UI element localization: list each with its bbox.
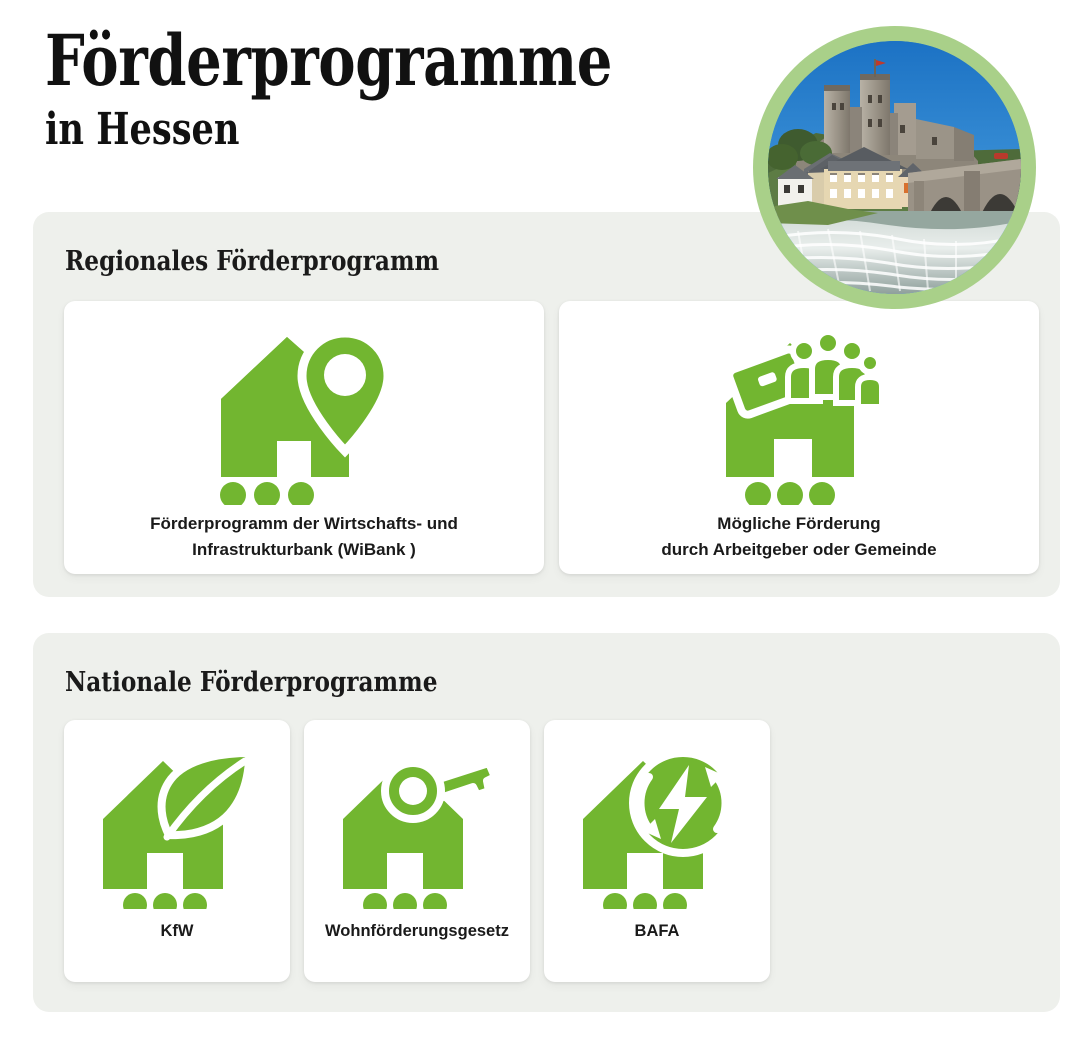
- page-subtitle: in Hessen: [45, 104, 605, 156]
- card-label: Förderprogramm der Wirtschafts- und Infr…: [134, 511, 474, 563]
- section-heading-regional: Regionales Förderprogramm: [65, 247, 439, 277]
- card-label: BAFA: [619, 918, 696, 944]
- house-leaf-icon: [97, 748, 257, 908]
- section-heading-national: Nationale Förderprogramme: [65, 668, 437, 698]
- card-row-national: KfW Woh: [64, 720, 770, 982]
- section-panel-national: Nationale Förderprogramme KfW: [33, 633, 1060, 1012]
- house-briefcase-people-icon: [712, 325, 887, 505]
- card-wohnfoerderungsgesetz[interactable]: Wohnförderungsgesetz: [304, 720, 530, 982]
- card-row-regional: Förderprogramm der Wirtschafts- und Infr…: [64, 301, 1039, 574]
- card-label: Wohnförderungsgesetz: [309, 918, 525, 944]
- card-arbeitgeber-gemeinde[interactable]: Mögliche Förderung durch Arbeitgeber ode…: [559, 301, 1039, 574]
- card-kfw[interactable]: KfW: [64, 720, 290, 982]
- hero-photo-ring: [753, 26, 1036, 309]
- castle-photo-illustration: [768, 41, 1021, 294]
- house-key-icon: [337, 748, 497, 908]
- house-energy-bolt-icon: [577, 748, 737, 908]
- page-title: Förderprogramme: [45, 22, 605, 100]
- card-bafa[interactable]: BAFA: [544, 720, 770, 982]
- page-header: Förderprogramme in Hessen: [45, 22, 745, 156]
- house-map-pin-icon: [217, 325, 392, 505]
- card-wibank[interactable]: Förderprogramm der Wirtschafts- und Infr…: [64, 301, 544, 574]
- card-label: KfW: [145, 918, 210, 944]
- runkel-castle-lahn-river-photo: [768, 41, 1021, 294]
- card-label: Mögliche Förderung durch Arbeitgeber ode…: [645, 511, 952, 563]
